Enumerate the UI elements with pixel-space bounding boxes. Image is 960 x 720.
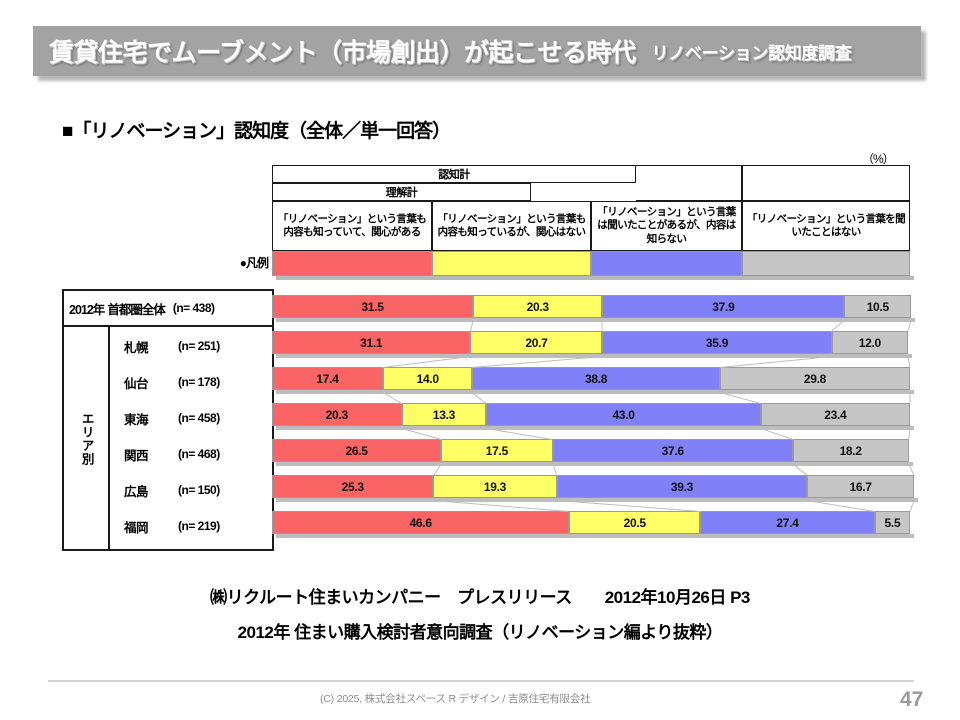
- legend-shadow: [276, 276, 914, 280]
- row-label-sample-size: (n= 178): [178, 375, 220, 389]
- legend-swatch-1: [272, 251, 432, 276]
- row-label-sample-size: (n= 219): [178, 519, 220, 533]
- row-label-sample-size: (n= 458): [178, 411, 220, 425]
- row-label-name: 東海: [124, 409, 178, 428]
- legend-color-strip: [272, 251, 910, 276]
- bar-shadow: [276, 534, 914, 538]
- category-label-2: 「リノベーション」という言葉も内容も知っているが、関心はない: [432, 201, 591, 251]
- group-band-column4: [742, 165, 910, 201]
- segment-connector-line: [602, 321, 603, 332]
- bar-segment: 27.4: [700, 511, 875, 534]
- bar-shadow: [276, 426, 914, 430]
- group-band-rikaikei: 理解計: [272, 183, 531, 201]
- bar-segment: 14.0: [383, 367, 472, 390]
- row-label-sample-size: (n= 251): [178, 339, 220, 353]
- source-caption-line1: ㈱リクルート住まいカンパニー プレスリリース 2012年10月26日 P3: [0, 583, 960, 608]
- row-label-name: 札幌: [124, 337, 178, 356]
- footer-copyright: (C) 2025, 株式会社スペース R デザイン / 吉原住宅有限会社: [320, 691, 590, 706]
- bar-segment: 10.5: [844, 295, 911, 318]
- row-label-name: 広島: [124, 481, 178, 500]
- bar-segment: 37.6: [553, 439, 793, 462]
- bar-segment: 17.5: [441, 439, 553, 462]
- bar-shadow: [276, 462, 913, 466]
- bar-row: 31.120.735.912.0: [272, 331, 910, 354]
- segment-connector-line: [908, 464, 914, 475]
- bar-segment: 12.0: [832, 331, 909, 354]
- row-label-name: 仙台: [124, 373, 178, 392]
- bar-segment: 20.7: [470, 331, 602, 354]
- segment-connector-line: [910, 500, 915, 511]
- page-number: 47: [900, 688, 940, 712]
- segment-connector-line: [908, 356, 911, 367]
- table-row: 福岡(n= 219): [110, 508, 274, 544]
- source-caption-line2: 2012年 住まい購入検討者意向調査（リノベーション編より抜粋）: [0, 618, 960, 643]
- row-label-sample-size: (n= 468): [178, 447, 220, 461]
- slide-title-banner: 賃貸住宅でムーブメント（市場創出）が起こせる時代 リノベーション認知度調査: [33, 26, 921, 76]
- bar-segment: 20.3: [272, 403, 402, 426]
- bar-row: 31.520.337.910.5: [272, 295, 910, 318]
- total-row-name: 首都圏全体: [107, 299, 165, 318]
- bar-row: 25.319.339.316.7: [272, 475, 910, 498]
- table-row-total: 2012年 首都圏全体 (n= 438): [64, 291, 272, 327]
- row-label-sample-size: (n= 150): [178, 483, 220, 497]
- area-group-label-text: エリア別: [79, 412, 92, 466]
- area-group-label: エリア別: [64, 327, 110, 551]
- chart-block: ■「リノベーション」認知度（全体／単一回答） （%） 認知計 理解計 「リノベー…: [0, 108, 960, 568]
- category-label-4: 「リノベーション」という言葉を聞いたことはない: [742, 201, 910, 251]
- bar-segment: 46.6: [272, 511, 569, 534]
- total-row-year: 2012年: [69, 299, 104, 318]
- legend-swatch-3: [591, 251, 742, 276]
- bar-segment: 26.5: [272, 439, 441, 462]
- total-row-sample-size: (n= 438): [173, 301, 215, 315]
- table-row: 広島(n= 150): [110, 472, 274, 508]
- bar-segment: 25.3: [272, 475, 433, 498]
- row-label-name: 福岡: [124, 517, 178, 536]
- legend-label: ●凡例: [196, 254, 268, 271]
- row-label-table: 2012年 首都圏全体 (n= 438) エリア別 札幌(n= 251)仙台(n…: [62, 289, 274, 551]
- bar-segment: 16.7: [807, 475, 914, 498]
- footer-divider: [48, 680, 914, 682]
- table-row: 東海(n= 458): [110, 400, 274, 436]
- bar-segment: 29.8: [720, 367, 910, 390]
- group-band-spacer: [636, 165, 742, 201]
- bar-segment: 13.3: [402, 403, 487, 426]
- bar-segment: 5.5: [875, 511, 910, 534]
- bar-segment: 17.4: [272, 367, 383, 390]
- bar-segment: 23.4: [761, 403, 910, 426]
- chart-heading: ■「リノベーション」認知度（全体／単一回答）: [62, 116, 450, 143]
- table-row: 仙台(n= 178): [110, 364, 274, 400]
- area-row-labels: 札幌(n= 251)仙台(n= 178)東海(n= 458)関西(n= 468)…: [110, 327, 274, 551]
- segment-connector-line: [910, 393, 911, 404]
- category-header-table: 認知計 理解計 「リノベーション」という言葉も内容も知っていて、関心がある 「リ…: [272, 165, 910, 251]
- category-label-3: 「リノベーション」という言葉は聞いたことがあるが、内容は知らない: [591, 201, 742, 251]
- stacked-bar-area: 31.520.337.910.531.120.735.912.017.414.0…: [272, 289, 910, 551]
- bar-row: 17.414.038.829.8: [272, 367, 910, 390]
- table-row: 札幌(n= 251): [110, 328, 274, 364]
- bar-segment: 20.3: [473, 295, 603, 318]
- bar-row: 20.313.343.023.4: [272, 403, 910, 426]
- group-band-ninchikei: 認知計: [272, 165, 636, 183]
- segment-connector-line: [908, 320, 912, 331]
- bar-segment: 37.9: [602, 295, 844, 318]
- category-label-1: 「リノベーション」という言葉も内容も知っていて、関心がある: [272, 201, 432, 251]
- segment-connector-line: [908, 428, 910, 439]
- bar-segment: 43.0: [486, 403, 760, 426]
- segment-connector-line: [552, 464, 557, 475]
- bar-segment: 20.5: [569, 511, 700, 534]
- bar-segment: 19.3: [433, 475, 556, 498]
- segment-connector-line: [470, 320, 474, 331]
- row-label-name: 関西: [124, 445, 178, 464]
- legend-swatch-4: [742, 251, 910, 276]
- legend-swatch-2: [432, 251, 591, 276]
- bar-segment: 31.5: [272, 295, 473, 318]
- slide-title-sub: リノベーション認知度調査: [652, 39, 852, 64]
- bar-segment: 18.2: [793, 439, 909, 462]
- slide-title-main: 賃貸住宅でムーブメント（市場創出）が起こせる時代: [49, 33, 636, 69]
- bar-shadow: [276, 318, 915, 322]
- bar-segment: 35.9: [602, 331, 831, 354]
- bar-segment: 31.1: [272, 331, 470, 354]
- bar-row: 46.620.527.45.5: [272, 511, 910, 534]
- bar-segment: 38.8: [472, 367, 720, 390]
- bar-shadow: [276, 390, 914, 394]
- bar-segment: 39.3: [557, 475, 808, 498]
- table-row: 関西(n= 468): [110, 436, 274, 472]
- bar-row: 26.517.537.618.2: [272, 439, 910, 462]
